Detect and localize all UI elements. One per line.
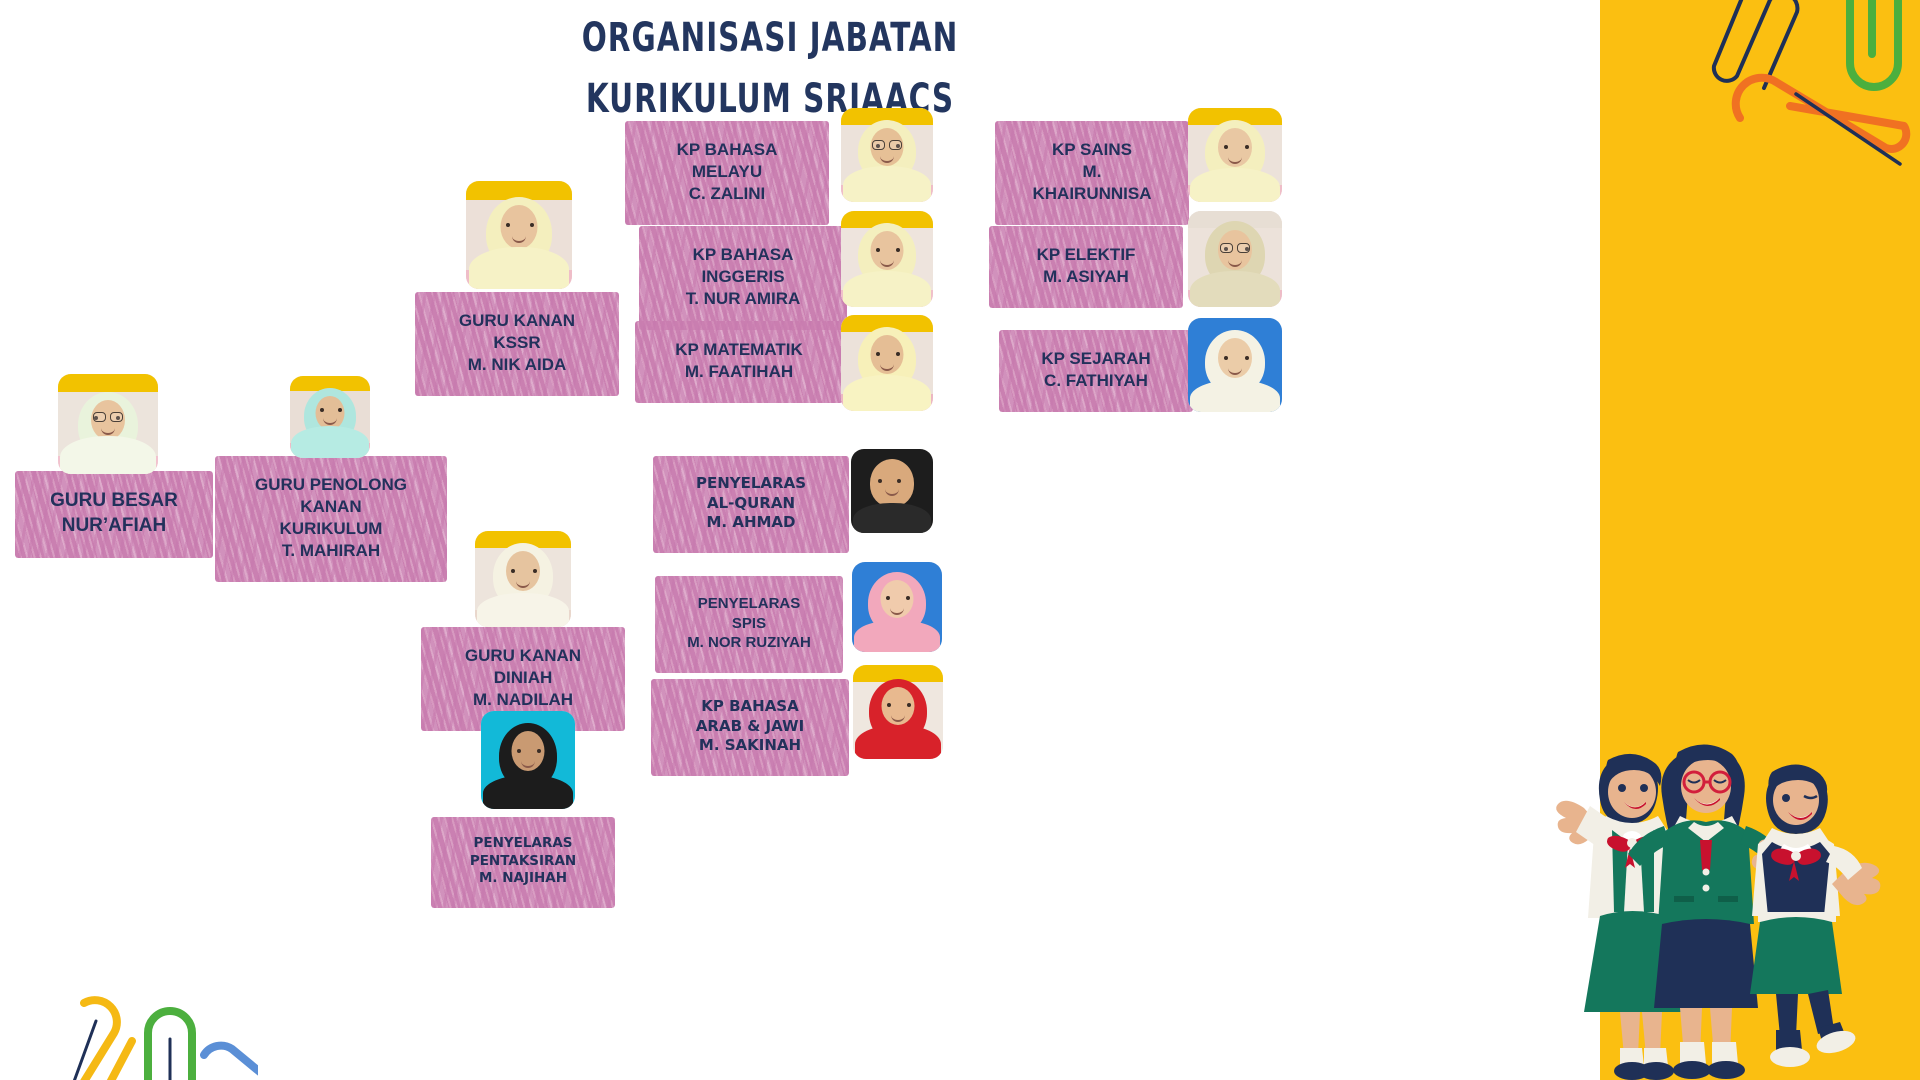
name-penyelaras-pentaksiran: M. NAJIHAH xyxy=(479,870,567,886)
avatar-kp-elektif xyxy=(1188,211,1282,307)
name-guru-besar: NUR’AFIAH xyxy=(62,515,167,536)
role-kp-bahasa-arab: KP BAHASA ARAB & JAWI xyxy=(696,697,804,735)
role-penyelaras-pentaksiran: PENYELARAS PENTAKSIRAN xyxy=(470,835,576,869)
avatar-kp-bahasa-melayu xyxy=(841,108,933,202)
paperclip-yellow-icon xyxy=(72,1000,132,1080)
poster-canvas: ORGANISASI JABATAN KURIKULUM SRIAACS xyxy=(0,0,1920,1080)
role-gpk-kurikulum: GURU PENOLONG KANAN xyxy=(255,475,407,516)
name-kp-matematik: M. FAATIHAH xyxy=(685,362,793,381)
node-guru-kanan-kssr[interactable]: GURU KANAN KSSR M. NIK AIDA xyxy=(424,299,610,387)
name-kp-bahasa-inggeris: T. NUR AMIRA xyxy=(686,289,801,308)
student-right xyxy=(1750,764,1880,1067)
name-kp-sains: M. KHAIRUNNISA xyxy=(1033,162,1152,203)
avatar-kp-sains xyxy=(1188,108,1282,202)
students-illustration xyxy=(1550,730,1910,1080)
avatar-penyelaras-pentaksiran xyxy=(481,711,575,809)
label-kp-elektif[interactable]: KP ELEKTIF M. ASIYAH xyxy=(998,233,1174,299)
label-penyelaras-pentaksiran[interactable]: PENYELARAS PENTAKSIRAN M. NAJIHAH xyxy=(440,824,606,899)
role-penyelaras-spis: PENYELARAS SPIS xyxy=(698,595,801,632)
label-guru-kanan-diniah[interactable]: GURU KANAN DINIAH M. NADILAH xyxy=(430,634,616,722)
avatar-penyelaras-spis xyxy=(852,562,942,652)
node-kp-elektif[interactable]: KP ELEKTIF M. ASIYAH xyxy=(998,233,1174,299)
label-penyelaras-spis[interactable]: PENYELARAS SPIS M. NOR RUZIYAH xyxy=(664,583,834,664)
node-penyelaras-alquran[interactable]: PENYELARAS AL-QURAN M. AHMAD xyxy=(662,463,840,544)
role-kp-elektif: KP ELEKTIF xyxy=(1037,245,1136,264)
node-guru-kanan-diniah[interactable]: GURU KANAN DINIAH M. NADILAH xyxy=(430,634,616,722)
avatar-guru-besar xyxy=(58,374,158,474)
page-title-line-1: ORGANISASI JABATAN xyxy=(540,8,999,69)
avatar-guru-kanan-diniah xyxy=(475,531,571,627)
name-guru-kanan-diniah: M. NADILAH xyxy=(473,690,573,709)
label-kp-bahasa-inggeris[interactable]: KP BAHASA INGGERIS T. NUR AMIRA xyxy=(648,233,838,321)
label-kp-bahasa-melayu[interactable]: KP BAHASA MELAYU C. ZALINI xyxy=(634,128,820,216)
name-kp-bahasa-melayu: C. ZALINI xyxy=(689,184,766,203)
role-kp-bahasa-melayu: KP BAHASA MELAYU xyxy=(677,140,778,181)
page-title: ORGANISASI JABATAN KURIKULUM SRIAACS xyxy=(490,8,1050,130)
paperclip-navy-2-icon xyxy=(1796,94,1900,164)
avatar-kp-bahasa-arab xyxy=(853,665,943,759)
node-kp-bahasa-arab[interactable]: KP BAHASA ARAB & JAWI M. SAKINAH xyxy=(660,686,840,767)
node-kp-matematik[interactable]: KP MATEMATIK M. FAATIHAH xyxy=(644,328,834,394)
avatar-kp-bahasa-inggeris xyxy=(841,211,933,307)
label-gpk-kurikulum[interactable]: GURU PENOLONG KANAN KURIKULUM T. MAHIRAH xyxy=(224,463,438,573)
role-kp-sains: KP SAINS xyxy=(1052,140,1132,159)
avatar-kp-sejarah xyxy=(1188,318,1282,412)
paperclip-cluster-bottom xyxy=(28,995,258,1080)
paperclip-blue-2-icon xyxy=(204,1046,258,1080)
role-kp-bahasa-inggeris: KP BAHASA INGGERIS xyxy=(693,245,794,286)
label-kp-sejarah[interactable]: KP SEJARAH C. FATHIYAH xyxy=(1008,337,1184,403)
name-gpk-kurikulum: T. MAHIRAH xyxy=(282,541,380,560)
label-guru-besar[interactable]: GURU BESAR NUR’AFIAH xyxy=(24,478,204,549)
name-penyelaras-alquran: M. AHMAD xyxy=(707,513,796,531)
role-penyelaras-alquran: PENYELARAS AL-QURAN xyxy=(696,474,806,512)
name-kp-elektif: M. ASIYAH xyxy=(1043,267,1129,286)
name-kp-bahasa-arab: M. SAKINAH xyxy=(699,736,801,754)
node-penyelaras-spis[interactable]: PENYELARAS SPIS M. NOR RUZIYAH xyxy=(664,583,834,664)
paperclip-green-icon xyxy=(1850,0,1898,87)
role-guru-kanan-kssr: GURU KANAN KSSR xyxy=(459,311,575,352)
label-kp-matematik[interactable]: KP MATEMATIK M. FAATIHAH xyxy=(644,328,834,394)
node-kp-bahasa-inggeris[interactable]: KP BAHASA INGGERIS T. NUR AMIRA xyxy=(648,233,838,321)
label-guru-kanan-kssr[interactable]: GURU KANAN KSSR M. NIK AIDA xyxy=(424,299,610,387)
avatar-guru-kanan-kssr xyxy=(466,181,572,289)
role-guru-kanan-diniah: GURU KANAN DINIAH xyxy=(465,646,581,687)
avatar-kp-matematik xyxy=(841,315,933,411)
node-kp-sejarah[interactable]: KP SEJARAH C. FATHIYAH xyxy=(1008,337,1184,403)
name-penyelaras-spis: M. NOR RUZIYAH xyxy=(687,634,811,651)
node-guru-besar[interactable]: GURU BESAR NUR’AFIAH xyxy=(24,478,204,549)
paperclip-cluster-top xyxy=(1700,0,1920,178)
avatar-gpk-kurikulum xyxy=(290,376,370,458)
avatar-penyelaras-alquran xyxy=(851,449,933,533)
role-kp-sejarah: KP SEJARAH xyxy=(1041,349,1150,368)
node-penyelaras-pentaksiran[interactable]: PENYELARAS PENTAKSIRAN M. NAJIHAH xyxy=(440,824,606,899)
name-guru-kanan-kssr: M. NIK AIDA xyxy=(468,355,567,374)
role-guru-besar: GURU BESAR xyxy=(50,490,178,511)
node-kp-sains[interactable]: KP SAINS M. KHAIRUNNISA xyxy=(1004,128,1180,216)
label-kp-bahasa-arab[interactable]: KP BAHASA ARAB & JAWI M. SAKINAH xyxy=(660,686,840,767)
label-penyelaras-alquran[interactable]: PENYELARAS AL-QURAN M. AHMAD xyxy=(662,463,840,544)
label-kp-sains[interactable]: KP SAINS M. KHAIRUNNISA xyxy=(1004,128,1180,216)
name-kp-sejarah: C. FATHIYAH xyxy=(1044,371,1148,390)
role-kp-matematik: KP MATEMATIK xyxy=(675,340,803,359)
role2-gpk-kurikulum: KURIKULUM xyxy=(280,519,383,538)
node-kp-bahasa-melayu[interactable]: KP BAHASA MELAYU C. ZALINI xyxy=(634,128,820,216)
node-gpk-kurikulum[interactable]: GURU PENOLONG KANAN KURIKULUM T. MAHIRAH xyxy=(224,463,438,573)
